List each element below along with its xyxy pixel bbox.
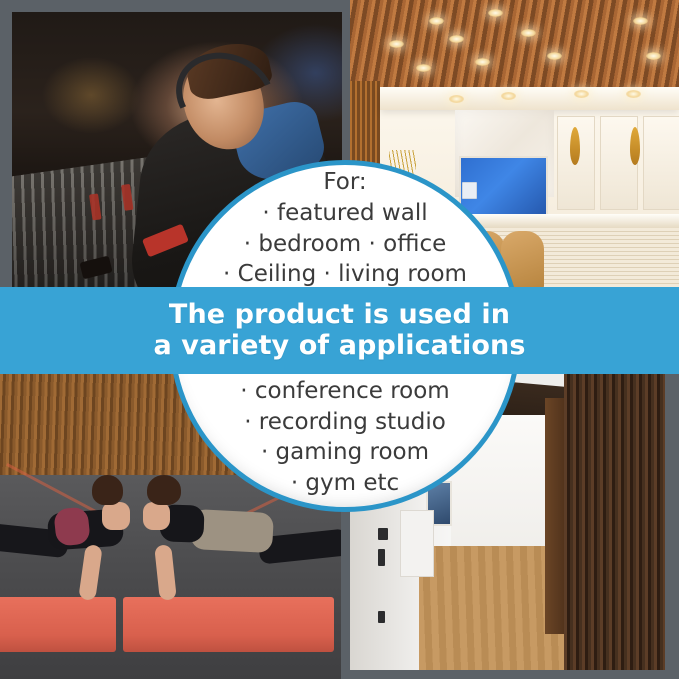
corridor-slat-wall [564, 374, 665, 670]
for-label: For: [323, 168, 366, 198]
headline-line-1: The product is used in [153, 300, 525, 330]
circle-item-conference-room: · conference room [240, 376, 449, 407]
circle-item-recording-studio: · recording studio [244, 407, 446, 438]
circle-bottom-list: · conference room · recording studio · g… [174, 372, 516, 507]
corridor-door [400, 510, 434, 577]
exercise-mat-right [123, 597, 334, 652]
circle-top-list: For: · featured wall · bedroom · office … [174, 165, 516, 292]
product-collage: For: · featured wall · bedroom · office … [0, 0, 679, 679]
circle-item-gym-etc: · gym etc [291, 468, 399, 499]
circle-item-bedroom-office: · bedroom · office [244, 229, 447, 260]
exercise-mat-left [0, 597, 116, 652]
headline-text: The product is used in a variety of appl… [153, 300, 525, 360]
circle-item-gaming-room: · gaming room [261, 437, 429, 468]
circle-item-ceiling-living-room: · Ceiling · living room [223, 259, 467, 290]
headline-line-2: a variety of applications [153, 331, 525, 361]
circle-item-featured-wall: · featured wall [262, 198, 427, 229]
headline-banner: The product is used in a variety of appl… [0, 287, 679, 374]
